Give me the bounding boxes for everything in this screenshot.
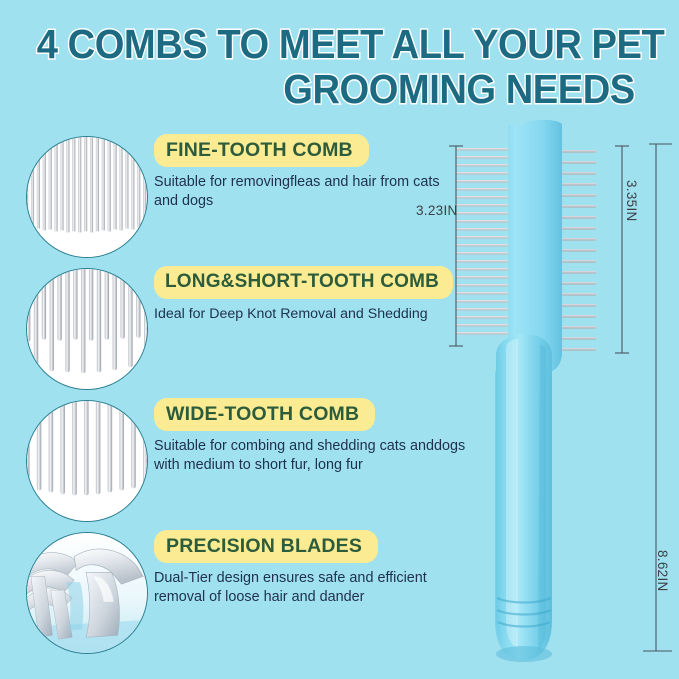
title-line-1: 4 COMBS TO MEET ALL YOUR PET	[37, 22, 642, 67]
feature-title-precision-blades: PRECISION BLADES	[154, 530, 378, 563]
infographic-canvas: 4 COMBS TO MEET ALL YOUR PET GROOMING NE…	[0, 0, 679, 679]
wide-tooth-comb-closeup-icon	[26, 400, 148, 522]
dimension-label-overall-length: 8.62IN	[655, 550, 670, 592]
long-short-tooth-comb-closeup-icon	[26, 268, 148, 390]
dimension-label-fine-tooth-row-height: 3.23IN	[416, 203, 458, 218]
title-line-2: GROOMING NEEDS	[37, 67, 642, 112]
feature-title-wide-tooth-comb: WIDE-TOOTH COMB	[154, 398, 375, 431]
fine-tooth-comb-closeup-icon	[26, 136, 148, 258]
feature-title-fine-tooth-comb: FINE-TOOTH COMB	[154, 134, 369, 167]
precision-blades-closeup-icon	[26, 532, 148, 654]
dimension-label-long-short-tooth-row-height: 3.35IN	[624, 180, 639, 222]
page-title: 4 COMBS TO MEET ALL YOUR PET GROOMING NE…	[0, 22, 679, 112]
